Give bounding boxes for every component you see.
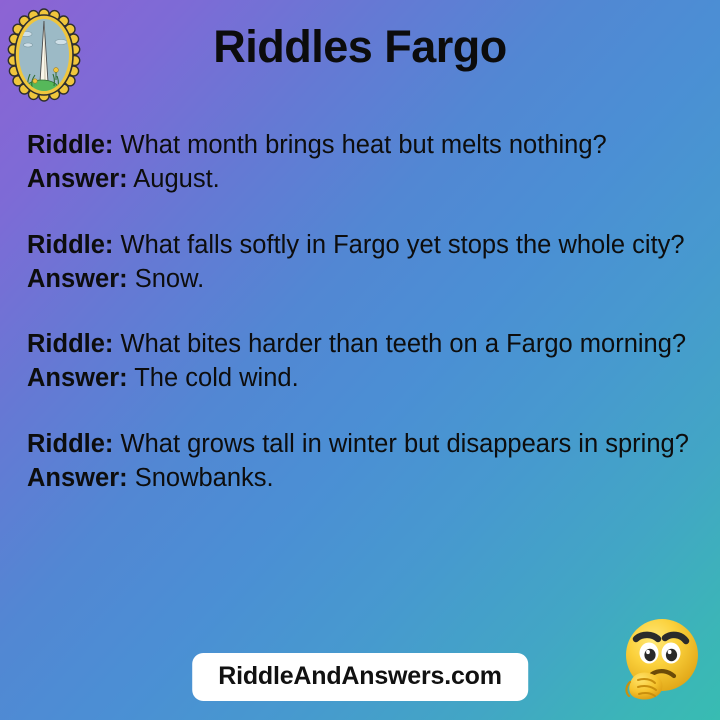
riddle-question-line: Riddle: What grows tall in winter but di… xyxy=(27,427,693,461)
riddle-question-text: What month brings heat but melts nothing… xyxy=(121,131,607,159)
riddle-list: Riddle: What month brings heat but melts… xyxy=(27,128,693,495)
riddle-block: Riddle: What falls softly in Fargo yet s… xyxy=(27,228,693,297)
riddle-poster: Riddles Fargo Riddle: What month brings … xyxy=(0,0,720,720)
riddle-question-line: Riddle: What month brings heat but melts… xyxy=(27,128,693,162)
riddle-question-text: What grows tall in winter but disappears… xyxy=(121,430,689,458)
thinking-face-emoji xyxy=(608,610,712,714)
riddle-question-text: What falls softly in Fargo yet stops the… xyxy=(121,231,685,259)
riddle-label: Riddle: xyxy=(27,430,113,458)
riddle-label: Riddle: xyxy=(27,231,113,259)
riddle-answer-text: The cold wind. xyxy=(134,364,298,392)
page-title: Riddles Fargo xyxy=(0,22,720,72)
answer-label: Answer: xyxy=(27,165,128,193)
site-watermark-pill[interactable]: RiddleAndAnswers.com xyxy=(192,653,528,701)
riddle-label: Riddle: xyxy=(27,131,113,159)
riddle-question-text: What bites harder than teeth on a Fargo … xyxy=(121,330,687,358)
riddle-answer-line: Answer: Snow. xyxy=(27,262,693,296)
riddle-answer-text: Snow. xyxy=(135,265,204,293)
riddle-block: Riddle: What grows tall in winter but di… xyxy=(27,427,693,496)
answer-label: Answer: xyxy=(27,364,128,392)
riddle-block: Riddle: What bites harder than teeth on … xyxy=(27,327,693,396)
riddle-answer-text: August. xyxy=(133,165,219,193)
answer-label: Answer: xyxy=(27,464,128,492)
riddle-block: Riddle: What month brings heat but melts… xyxy=(27,128,693,197)
riddle-answer-line: Answer: August. xyxy=(27,162,693,196)
riddle-question-line: Riddle: What falls softly in Fargo yet s… xyxy=(27,228,693,262)
riddle-question-line: Riddle: What bites harder than teeth on … xyxy=(27,327,693,361)
riddle-label: Riddle: xyxy=(27,330,113,358)
riddle-answer-line: Answer: Snowbanks. xyxy=(27,461,693,495)
riddle-answer-text: Snowbanks. xyxy=(135,464,274,492)
riddle-answer-line: Answer: The cold wind. xyxy=(27,361,693,395)
answer-label: Answer: xyxy=(27,265,128,293)
